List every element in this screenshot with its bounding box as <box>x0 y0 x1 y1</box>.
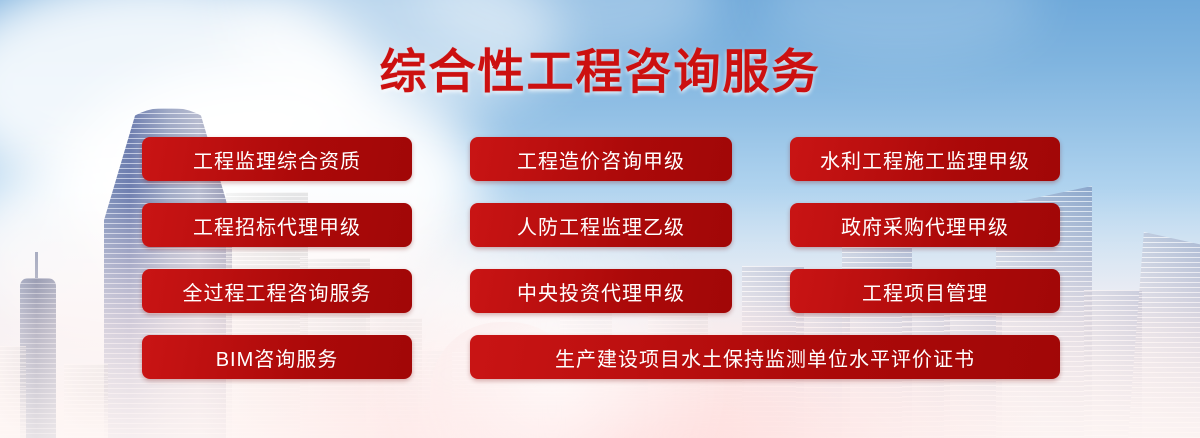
qualification-badge-grid: 工程监理综合资质 工程造价咨询甲级 水利工程施工监理甲级 工程招标代理甲级 人防… <box>142 137 1062 379</box>
qualification-badge[interactable]: 工程监理综合资质 <box>142 137 412 181</box>
badge-row: 工程招标代理甲级 人防工程监理乙级 政府采购代理甲级 <box>142 203 1062 247</box>
building <box>0 346 26 438</box>
qualification-badge[interactable]: 生产建设项目水土保持监测单位水平评价证书 <box>470 335 1060 379</box>
qualification-badge[interactable]: 水利工程施工监理甲级 <box>790 137 1060 181</box>
badge-row: 全过程工程咨询服务 中央投资代理甲级 工程项目管理 <box>142 269 1062 313</box>
qualification-badge[interactable]: BIM咨询服务 <box>142 335 412 379</box>
service-qualifications-banner: 综合性工程咨询服务 工程监理综合资质 工程造价咨询甲级 水利工程施工监理甲级 工… <box>0 0 1200 438</box>
qualification-badge[interactable]: 人防工程监理乙级 <box>470 203 732 247</box>
qualification-badge[interactable]: 工程招标代理甲级 <box>142 203 412 247</box>
qualification-badge[interactable]: 政府采购代理甲级 <box>790 203 1060 247</box>
qualification-badge[interactable]: 全过程工程咨询服务 <box>142 269 412 313</box>
page-title: 综合性工程咨询服务 <box>0 48 1200 95</box>
qualification-badge[interactable]: 中央投资代理甲级 <box>470 269 732 313</box>
badge-row: 工程监理综合资质 工程造价咨询甲级 水利工程施工监理甲级 <box>142 137 1062 181</box>
badge-row: BIM咨询服务 生产建设项目水土保持监测单位水平评价证书 <box>142 335 1062 379</box>
building <box>64 364 108 438</box>
qualification-badge[interactable]: 工程造价咨询甲级 <box>470 137 732 181</box>
building <box>1128 232 1200 438</box>
qualification-badge[interactable]: 工程项目管理 <box>790 269 1060 313</box>
